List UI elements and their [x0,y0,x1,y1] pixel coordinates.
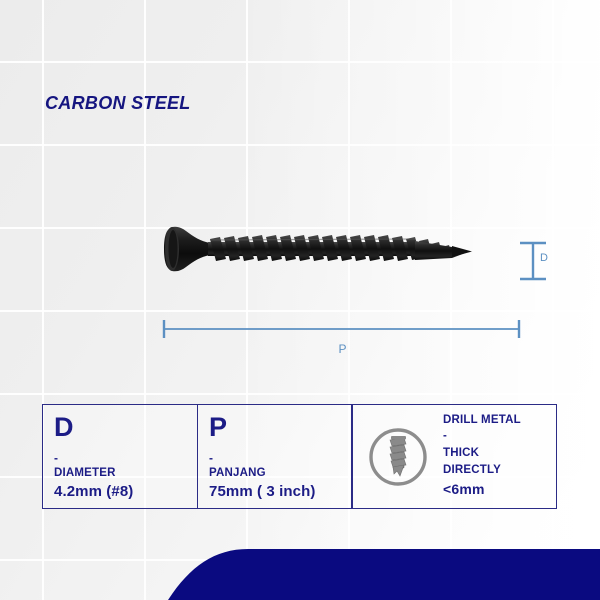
screw-in-circle-icon [367,426,429,488]
spec-value-d: 4.2mm (#8) [54,482,197,502]
dimension-label-p: P [160,342,525,356]
spec-dash-d: - [54,452,197,466]
product-spec-card: CARBON STEEL [0,0,600,600]
spec-table: D - DIAMETER 4.2mm (#8) P - PANJANG 75mm… [42,404,557,509]
feature-text-block: DRILL METAL - THICK DIRECTLY <6mm [443,412,521,502]
spec-dash-p: - [209,452,351,466]
screw-illustration [160,215,510,310]
screw-head [164,227,210,272]
spec-name-p: PANJANG [209,466,351,482]
spec-letter-p: P [209,414,351,441]
dimension-marker-d [516,238,562,284]
spec-cell-length: P - PANJANG 75mm ( 3 inch) [198,405,353,508]
feature-dash: - [443,428,521,445]
dimension-label-d: D [540,252,548,264]
bottom-banner [0,540,600,600]
spec-value-p: 75mm ( 3 inch) [209,482,351,502]
dimension-marker-p [160,318,525,340]
page-title: CARBON STEEL [45,93,191,114]
spec-letter-d: D [54,414,197,441]
feature-line-3: DIRECTLY [443,462,521,479]
feature-line-1: DRILL METAL [443,412,521,429]
screw-svg [160,215,510,310]
spec-cell-feature: DRILL METAL - THICK DIRECTLY <6mm [353,405,556,508]
spec-cell-diameter: D - DIAMETER 4.2mm (#8) [43,405,198,508]
spec-name-d: DIAMETER [54,466,197,482]
feature-line-2: THICK [443,445,521,462]
feature-thickness: <6mm [443,479,521,499]
